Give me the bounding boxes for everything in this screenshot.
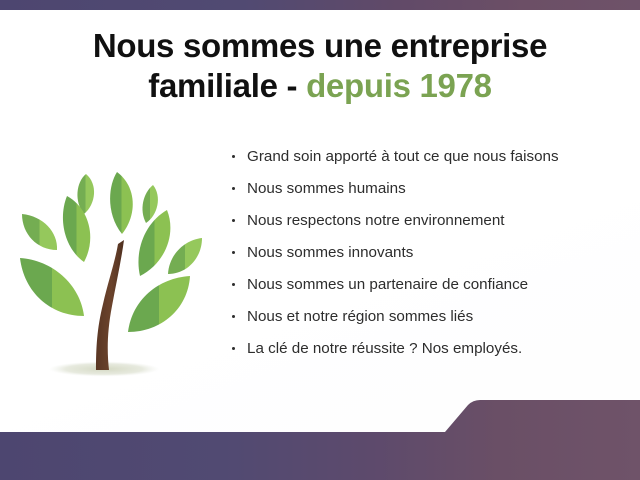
list-item: Nous sommes humains [230, 180, 630, 197]
headline-line-1: Nous sommes une entreprise [18, 26, 622, 66]
list-item-label: Grand soin apporté à tout ce que nous fa… [247, 148, 559, 165]
list-item: Nous sommes innovants [230, 244, 630, 261]
leaf-upper-right-small [142, 185, 157, 223]
list-item-label: Nous respectons notre environnement [247, 212, 505, 229]
leaf-far-right [168, 238, 202, 274]
footer-shape [0, 398, 640, 480]
footer-band: tabor-automobiles.fr [0, 398, 640, 480]
list-item-label: Nous sommes un partenaire de confiance [247, 276, 528, 293]
leaf-lower-right [128, 276, 190, 332]
value-list: Grand soin apporté à tout ce que nous fa… [230, 148, 630, 372]
headline-line-2: familiale - depuis 1978 [18, 66, 622, 106]
list-item: La clé de notre réussite ? Nos employés. [230, 340, 630, 357]
leaf-lower-left [20, 258, 84, 316]
list-item-label: La clé de notre réussite ? Nos employés. [247, 340, 522, 357]
list-item: Grand soin apporté à tout ce que nous fa… [230, 148, 630, 165]
list-item: Nous respectons notre environnement [230, 212, 630, 229]
list-item-label: Nous sommes humains [247, 180, 406, 197]
list-item-label: Nous sommes innovants [247, 244, 413, 261]
list-item: Nous et notre région sommes liés [230, 308, 630, 325]
list-item: Nous sommes un partenaire de confiance [230, 276, 630, 293]
tree-illustration [12, 152, 222, 392]
headline-line-2-accent: depuis 1978 [306, 67, 492, 104]
top-accent-bar [0, 0, 640, 10]
leaf-far-left [22, 214, 57, 250]
slide-canvas: Nous sommes une entreprise familiale - d… [0, 0, 640, 480]
list-item-label: Nous et notre région sommes liés [247, 308, 473, 325]
leaf-top-center [110, 172, 133, 234]
tree-trunk [96, 240, 124, 370]
leaf-mid-right [138, 210, 170, 276]
page-title: Nous sommes une entreprise familiale - d… [0, 26, 640, 107]
headline-line-2-plain: familiale - [148, 67, 306, 104]
